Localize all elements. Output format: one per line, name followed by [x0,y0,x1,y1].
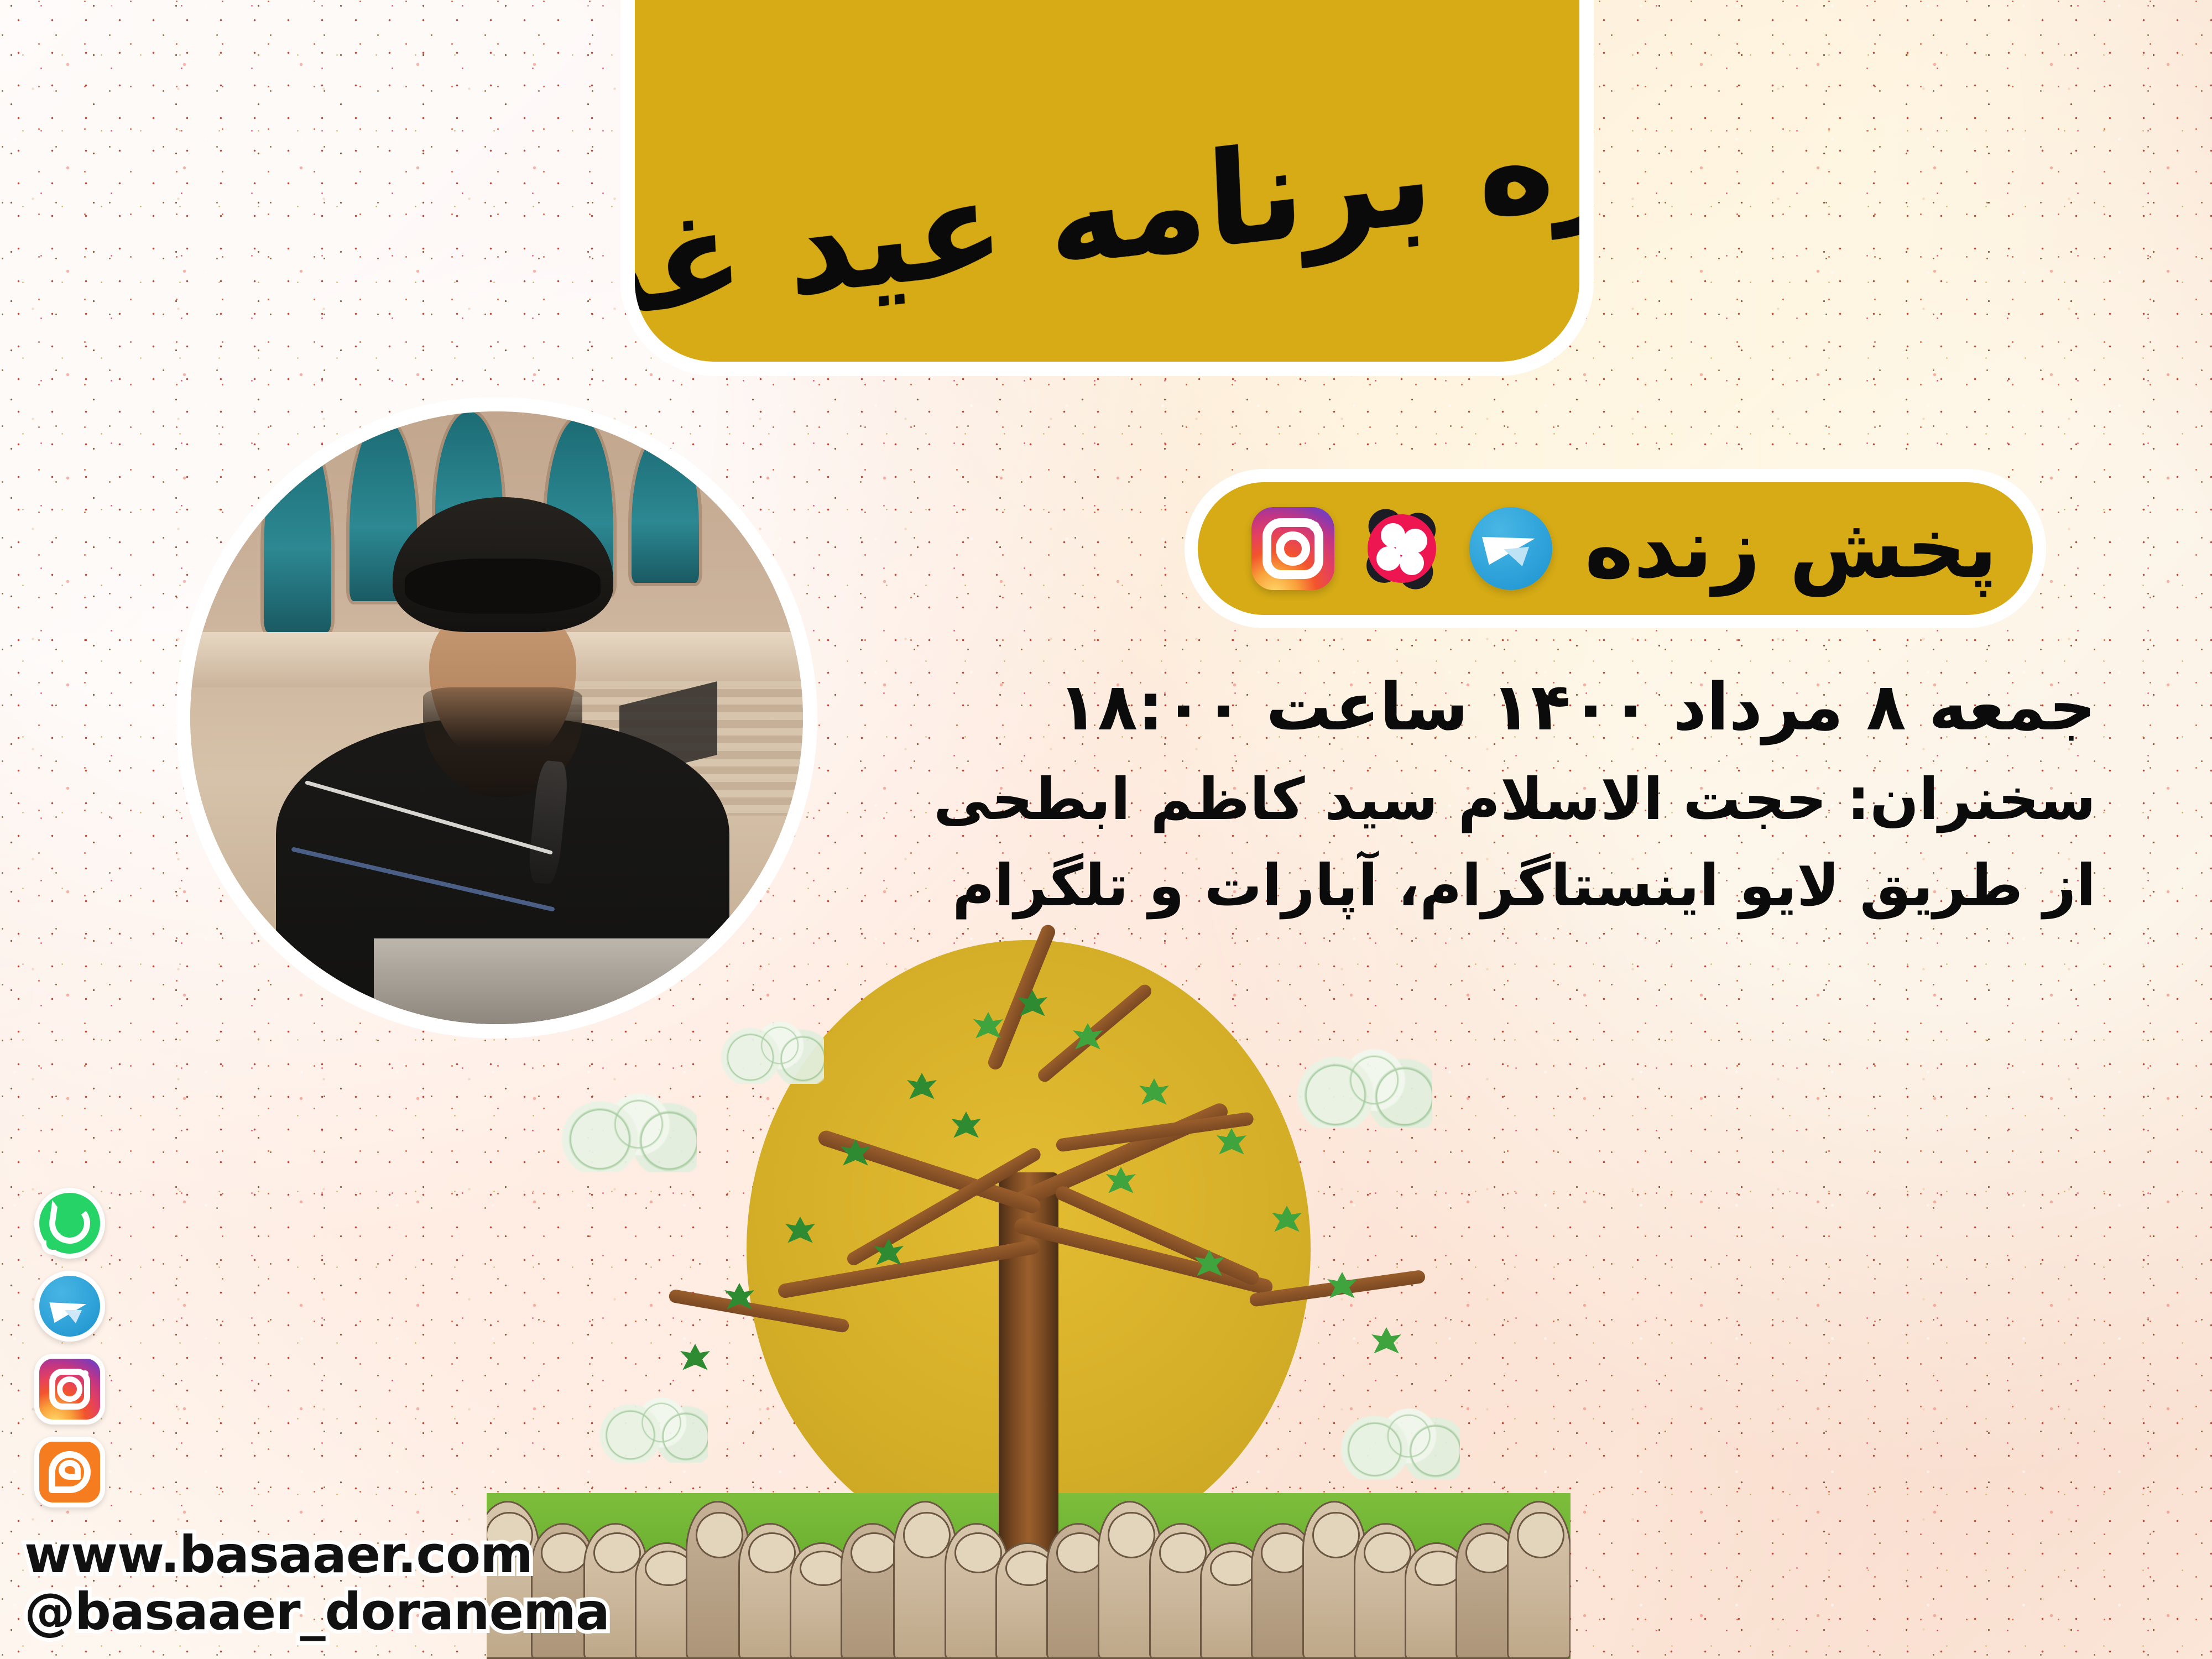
stylized-cloud [597,1394,708,1463]
poster-title: ویژه برنامه عید غدیر [620,74,1594,354]
stylized-cloud [1338,1405,1460,1479]
title-badge: ویژه برنامه عید غدیر [620,0,1594,376]
website-url[interactable]: www.basaaer.com [24,1526,609,1583]
instagram-lens [57,1376,82,1402]
eitaa-icon[interactable] [34,1437,105,1507]
whatsapp-icon[interactable] [34,1188,105,1259]
tree-leaf [680,1344,710,1374]
social-handle[interactable]: @basaaer_doranema [24,1583,609,1640]
ghadir-illustration [487,907,1571,1659]
live-broadcast-badge: پخش زنده [1185,469,2046,628]
instagram-lens [1276,531,1310,566]
telegram-plane-fold [65,1310,82,1323]
crowd-person [1507,1501,1571,1659]
aparat-icon[interactable] [1360,507,1444,591]
event-info-block: جمعه ۸ مرداد ۱۴۰۰ ساعت ۱۸:۰۰ سخنران: حجت… [990,658,2096,928]
instagram-icon[interactable] [34,1354,105,1425]
crowd-group [487,1482,1571,1659]
tree-leaf [1371,1327,1401,1357]
telegram-icon[interactable] [1469,507,1552,590]
contact-block: www.basaaer.com @basaaer_doranema [24,1526,609,1640]
event-speaker: سخنران: حجت الاسلام سید کاظم ابطحی [990,756,2096,842]
instagram-icon[interactable] [1251,507,1334,590]
poster-canvas: ویژه برنامه عید غدیر پخش زنده [0,0,2212,1659]
event-datetime: جمعه ۸ مرداد ۱۴۰۰ ساعت ۱۸:۰۰ [990,658,2096,756]
stylized-cloud [559,1089,697,1172]
whatsapp-handset [46,1200,93,1246]
eitaa-glyph-inner [59,1460,81,1480]
social-icon-stack [34,1188,105,1507]
stylized-cloud [719,1018,824,1084]
stylized-cloud [1294,1045,1432,1128]
whatsapp-bubble-tail [41,1240,56,1255]
telegram-icon[interactable] [34,1271,105,1342]
aparat-reel [1368,514,1436,583]
speaker-turban-wrap [405,559,601,614]
live-broadcast-label: پخش زنده [1584,507,1997,590]
live-platform-icons [1251,507,1552,591]
telegram-plane-fold [1504,547,1531,568]
instagram-dot [82,1370,88,1377]
